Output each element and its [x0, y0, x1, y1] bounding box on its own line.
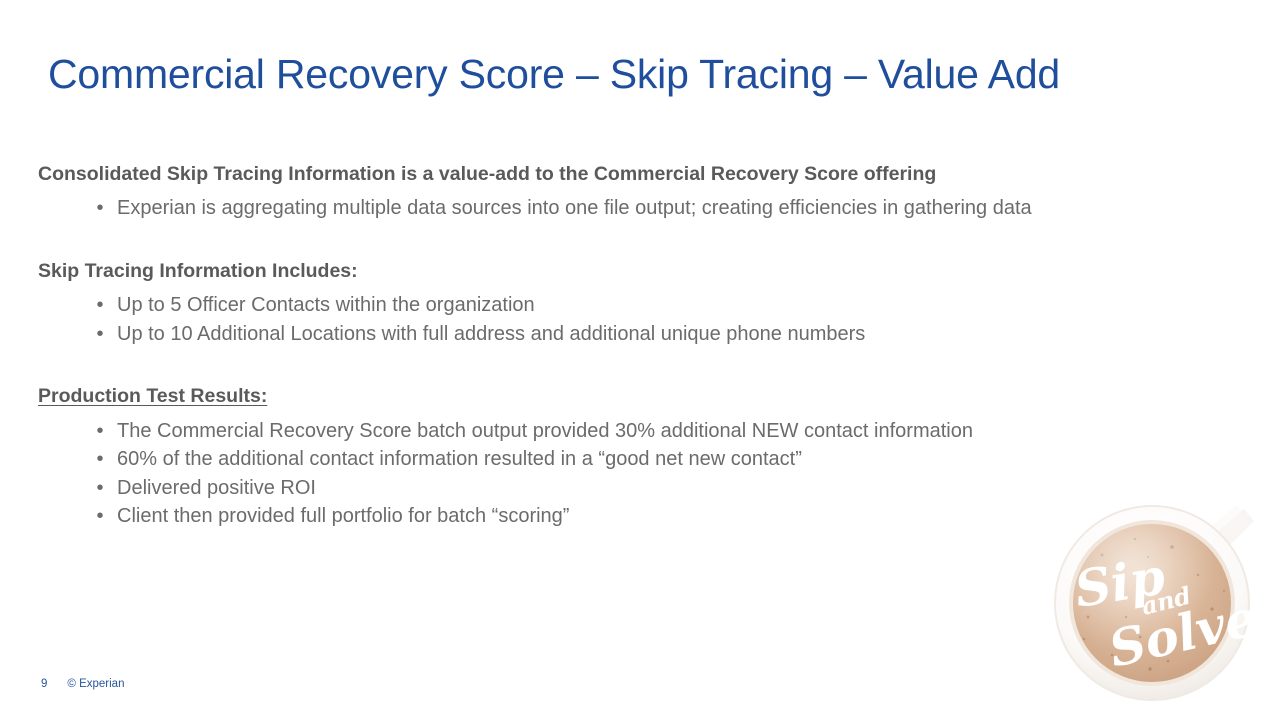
- list-item: • Experian is aggregating multiple data …: [38, 194, 1238, 223]
- list-item-text: Experian is aggregating multiple data so…: [117, 197, 1032, 219]
- list-item: • Up to 10 Additional Locations with ful…: [38, 320, 1238, 349]
- bullet-point-icon: •: [90, 417, 110, 446]
- bullet-point-icon: •: [90, 445, 110, 474]
- content-block: Skip Tracing Information Includes: • Up …: [38, 257, 1238, 348]
- list-item: • Up to 5 Officer Contacts within the or…: [38, 291, 1238, 320]
- sip-and-solve-logo: Sip and Solve: [1040, 487, 1272, 720]
- list-item-text: 60% of the additional contact informatio…: [117, 448, 802, 470]
- copyright-notice: © Experian: [67, 678, 124, 690]
- slide-number: 9: [41, 678, 47, 690]
- bullet-point-icon: •: [90, 194, 110, 223]
- slide-canvas: Commercial Recovery Score – Skip Tracing…: [0, 0, 1280, 720]
- content-block: Consolidated Skip Tracing Information is…: [38, 160, 1238, 223]
- list-item-text: Client then provided full portfolio for …: [117, 505, 569, 527]
- list-item-text: Up to 10 Additional Locations with full …: [117, 323, 865, 345]
- list-item: • 60% of the additional contact informat…: [38, 445, 1238, 474]
- list-item-text: The Commercial Recovery Score batch outp…: [117, 420, 973, 442]
- bullet-point-icon: •: [90, 291, 110, 320]
- bullet-list: • Experian is aggregating multiple data …: [38, 194, 1238, 223]
- list-item-text: Up to 5 Officer Contacts within the orga…: [117, 294, 535, 316]
- list-item-text: Delivered positive ROI: [117, 477, 316, 499]
- block-heading: Production Test Results:: [38, 382, 267, 410]
- block-heading: Skip Tracing Information Includes:: [38, 257, 358, 285]
- block-heading: Consolidated Skip Tracing Information is…: [38, 160, 936, 188]
- bullet-list: • Up to 5 Officer Contacts within the or…: [38, 291, 1238, 348]
- slide-body: Consolidated Skip Tracing Information is…: [38, 160, 1238, 531]
- bullet-point-icon: •: [90, 502, 110, 531]
- page-title: Commercial Recovery Score – Skip Tracing…: [48, 52, 1238, 98]
- list-item: • The Commercial Recovery Score batch ou…: [38, 417, 1238, 446]
- bullet-point-icon: •: [90, 320, 110, 349]
- bullet-point-icon: •: [90, 474, 110, 503]
- slide-footer: 9 © Experian: [41, 678, 124, 690]
